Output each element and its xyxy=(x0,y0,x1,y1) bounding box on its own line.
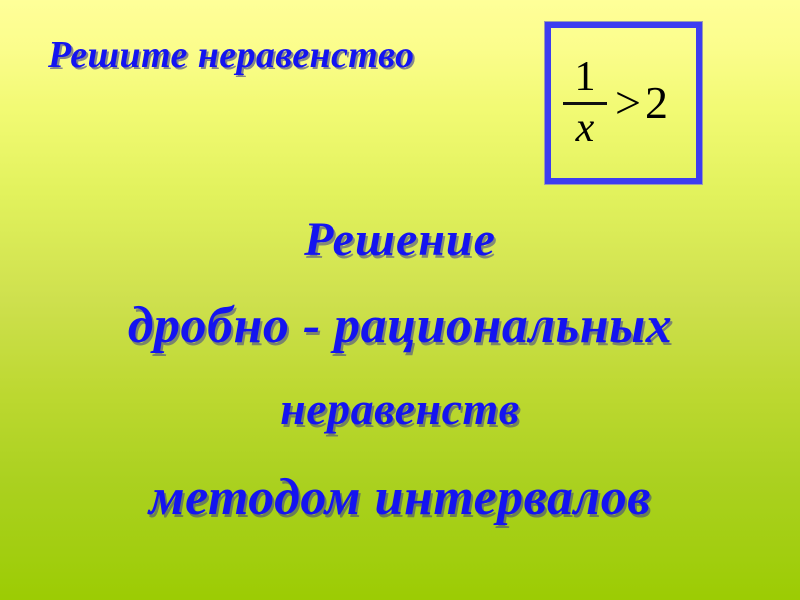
formula-box: 1 x > 2 xyxy=(545,22,702,184)
inequality-formula: 1 x > 2 xyxy=(563,58,668,149)
body-text-block: Решение дробно - рациональных неравенств… xyxy=(0,200,800,570)
fraction-numerator: 1 xyxy=(575,58,596,99)
body-line-2: дробно - рациональных xyxy=(0,296,800,355)
body-line-1: Решение xyxy=(0,212,800,267)
body-line-4: методом интервалов xyxy=(0,468,800,527)
right-hand-side-value: 2 xyxy=(645,80,668,126)
greater-than-symbol: > xyxy=(615,80,641,126)
fraction-one-over-x: 1 x xyxy=(563,58,607,149)
heading-row: Решите неравенство 1 x > 2 xyxy=(0,0,800,200)
formula-box-inner: 1 x > 2 xyxy=(549,26,698,180)
page-title: Решите неравенство xyxy=(48,33,414,77)
slide-canvas: Решите неравенство 1 x > 2 Решение дробн… xyxy=(0,0,800,600)
body-line-3: неравенств xyxy=(0,382,800,435)
fraction-denominator: x xyxy=(576,108,595,149)
